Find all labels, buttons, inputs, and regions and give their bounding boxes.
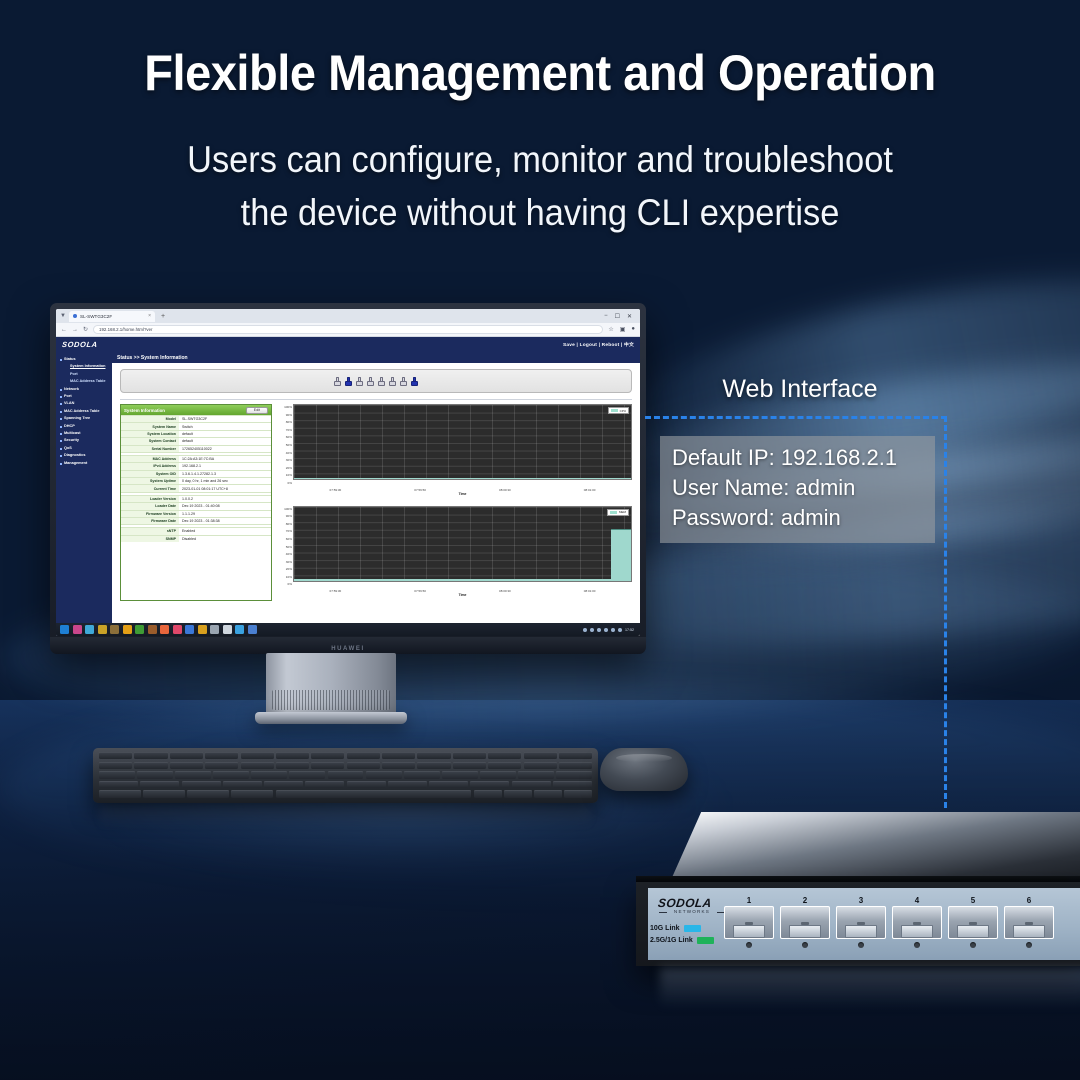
keyboard-key[interactable] — [175, 771, 211, 778]
app-header: SODOLA Save | Logout | Reboot | 中文 — [56, 337, 640, 352]
switch-port-5: 5 — [948, 896, 998, 948]
keyboard-key[interactable] — [347, 752, 380, 759]
utilization-charts: 100%90%80%70%60%50%40%30%20%10%0%CPU07:5… — [280, 404, 632, 601]
store-icon[interactable] — [110, 625, 119, 634]
folder-icon[interactable] — [98, 625, 107, 634]
x-axis-label: Time — [280, 593, 632, 597]
y-tick-label: 40% — [280, 450, 293, 458]
keyboard-reflection — [100, 805, 590, 827]
default-ip-line: Default IP: 192.168.2.1 — [672, 443, 923, 473]
keyboard-key[interactable] — [470, 781, 509, 788]
row-label: System Uptime — [121, 478, 179, 484]
keyboard-key[interactable] — [134, 762, 167, 769]
row-value: default — [179, 431, 271, 437]
breadcrumb: Status >> System Information — [112, 352, 640, 363]
row-value: default — [179, 438, 271, 444]
row-label: Firmware Date — [121, 518, 179, 524]
cloud-icon[interactable] — [604, 628, 608, 632]
favicon-icon — [73, 314, 77, 318]
y-tick-label: 10% — [280, 574, 293, 582]
sidebar-item-management[interactable]: Management — [59, 460, 109, 467]
x-axis-label: Time — [280, 492, 632, 496]
keyboard-key[interactable] — [518, 771, 554, 778]
sidebar-item-diagnostics[interactable]: Diagnostics — [59, 452, 109, 459]
office-icon[interactable] — [185, 625, 194, 634]
y-tick-label: 80% — [280, 419, 293, 427]
keyboard-key[interactable] — [264, 781, 303, 788]
port-icon-1[interactable] — [334, 377, 341, 386]
port-led — [970, 942, 976, 948]
keyboard-key[interactable] — [524, 762, 557, 769]
keyboard-key[interactable] — [213, 771, 249, 778]
table-row: Loader Version1.0.0.2 — [121, 495, 271, 502]
port-number: 2 — [780, 896, 830, 905]
legend-10g-swatch — [684, 925, 701, 932]
switch-port-1: 1 — [724, 896, 774, 948]
shield-icon[interactable] — [618, 628, 622, 632]
keyboard-key[interactable] — [241, 752, 274, 759]
table-row: System Contactdefault — [121, 437, 271, 444]
port-led — [1026, 942, 1032, 948]
keyboard-key[interactable] — [417, 762, 450, 769]
system-information-table: System Information Edit ModelSL-SWTG3C2F… — [120, 404, 272, 601]
y-tick-label: 70% — [280, 427, 293, 435]
keyboard-row — [99, 781, 592, 788]
y-tick-label: 80% — [280, 521, 293, 529]
legend-25g-link: 2.5G/1G Link — [650, 937, 714, 944]
skype-icon[interactable] — [235, 625, 244, 634]
legend-swatch — [610, 511, 617, 514]
table-row: Serial Number172652405110022 — [121, 445, 271, 452]
word-icon[interactable] — [248, 625, 257, 634]
sidebar-item-port[interactable]: Port — [59, 393, 109, 400]
tool-icon[interactable] — [148, 625, 157, 634]
port-number: 3 — [836, 896, 886, 905]
y-tick-label: 20% — [280, 566, 293, 574]
keyboard-key[interactable] — [564, 790, 592, 797]
table-row: System NameSwitch — [121, 422, 271, 429]
keyboard-key[interactable] — [429, 781, 468, 788]
row-label: System OID — [121, 471, 179, 477]
row-label: System Location — [121, 431, 179, 437]
keyboard-key[interactable] — [453, 762, 486, 769]
table-row: System OID1.3.6.1.4.1.27282.1.3 — [121, 470, 271, 477]
x-tick-label: 08:00:30 — [499, 589, 511, 593]
monitor: ▼ SL-SWTG3C2F × + − ☐ ✕ ← → ↻ 192.168.2.… — [50, 303, 646, 652]
keyboard-key[interactable] — [140, 781, 179, 788]
bookmark-star-icon[interactable]: ☆ — [608, 326, 613, 333]
keyboard-key[interactable] — [99, 781, 138, 788]
new-tab-button[interactable]: + — [158, 313, 168, 320]
page-title: Flexible Management and Operation — [32, 44, 1047, 102]
sidebar-item-network[interactable]: Network — [59, 386, 109, 393]
profile-avatar-icon[interactable]: ● — [631, 326, 635, 333]
keyboard-key[interactable] — [187, 790, 229, 797]
x-tick-label: 08:01:00 — [584, 488, 596, 492]
port-number: 6 — [1004, 896, 1054, 905]
monitor-bezel: HUAWEI — [50, 637, 646, 654]
content-area: Status >> System Information System Info… — [112, 352, 640, 636]
row-label: Current Time — [121, 485, 179, 491]
keyboard-key[interactable] — [347, 781, 386, 788]
keyboard-key[interactable] — [223, 781, 262, 788]
keyboard-key[interactable] — [251, 771, 287, 778]
sidebar-item-mac-address-table[interactable]: MAC Address Table — [59, 408, 109, 415]
switch-port-4: 4 — [892, 896, 942, 948]
port-icon-8[interactable] — [411, 377, 418, 386]
page-subtitle: Users can configure, monitor and trouble… — [38, 133, 1042, 239]
browser-tab-title: SL-SWTG3C2F — [80, 314, 112, 319]
table-row: sNTPEnabled — [121, 527, 271, 534]
sidebar-item-mac-address-table[interactable]: MAC Address Table — [59, 378, 109, 385]
row-value: Dec 19 2023 - 01:38:38 — [179, 518, 271, 524]
browser-icon[interactable] — [60, 625, 69, 634]
sidebar-item-vlan[interactable]: VLAN — [59, 400, 109, 407]
credentials-box: Default IP: 192.168.2.1 User Name: admin… — [660, 436, 935, 543]
extensions-icon[interactable]: ▣ — [620, 326, 626, 333]
switch-ports: 123456 — [724, 896, 1054, 948]
keyboard-key[interactable] — [241, 762, 274, 769]
chart-legend: MEM — [607, 509, 629, 516]
chevron-up-icon[interactable] — [611, 628, 615, 632]
monitor-screen: ▼ SL-SWTG3C2F × + − ☐ ✕ ← → ↻ 192.168.2.… — [56, 309, 640, 636]
table-row: MAC Address1C:2A:A3:1E:7C:BA — [121, 455, 271, 462]
plot-area: MEM — [293, 506, 632, 582]
x-tick-label: 07:59:30 — [330, 488, 342, 492]
keyboard-key[interactable] — [137, 771, 173, 778]
row-value: Enabled — [179, 528, 271, 534]
taskbar-clock[interactable]: 17:52 — [625, 628, 634, 632]
table-title: System Information — [124, 408, 165, 413]
volume-icon[interactable] — [590, 628, 594, 632]
switch-brand-logo: SODOLA — [657, 896, 725, 910]
switch-reflection — [660, 968, 1080, 1008]
y-tick-label: 90% — [280, 513, 293, 521]
y-axis: 100%90%80%70%60%50%40%30%20%10%0% — [280, 506, 293, 590]
table-row: ModelSL-SWTG3C2F — [121, 415, 271, 422]
info-and-charts: System Information Edit ModelSL-SWTG3C2F… — [112, 404, 640, 601]
row-value: 1.1.1.29 — [179, 511, 271, 517]
switch-web-ui: SODOLA Save | Logout | Reboot | 中文 Statu… — [56, 337, 640, 636]
switch-port-6: 6 — [1004, 896, 1054, 948]
keyboard-key[interactable] — [311, 752, 344, 759]
system-tray[interactable]: 17:52 — [583, 628, 636, 632]
sfp-cage-icon — [836, 906, 886, 939]
series-area — [611, 529, 631, 581]
address-bar[interactable]: 192.168.2.1/home.html?ver — [93, 325, 603, 334]
table-row: Loader DateDec 19 2023 - 01:40:08 — [121, 502, 271, 509]
port-number: 4 — [892, 896, 942, 905]
y-tick-label: 70% — [280, 528, 293, 536]
x-tick-label: 07:59:50 — [414, 488, 426, 492]
keyboard-key[interactable] — [474, 790, 502, 797]
table-row: System Uptime0 day, 0 hr, 1 min and 26 s… — [121, 477, 271, 484]
table-row: SNMPDisabled — [121, 535, 271, 542]
sidebar-item-security[interactable]: Security — [59, 437, 109, 444]
keyboard-key[interactable] — [556, 771, 592, 778]
row-label: sNTP — [121, 528, 179, 534]
password-line: Password: admin — [672, 503, 923, 533]
keyboard-key[interactable] — [311, 762, 344, 769]
y-tick-label: 50% — [280, 544, 293, 552]
sfp-cage-icon — [724, 906, 774, 939]
sfp-cage-icon — [948, 906, 998, 939]
row-value: 0 day, 0 hr, 1 min and 26 sec — [179, 478, 271, 484]
keyboard-key[interactable] — [382, 762, 415, 769]
port-led — [802, 942, 808, 948]
book-icon[interactable] — [123, 625, 132, 634]
photos-icon[interactable] — [173, 625, 182, 634]
port-icon-3[interactable] — [356, 377, 363, 386]
monitor-stand-base — [255, 712, 407, 724]
sidebar-item-dhcp[interactable]: DHCP — [59, 423, 109, 430]
keyboard-key[interactable] — [231, 790, 273, 797]
legend-swatch — [611, 409, 618, 412]
y-tick-label: 100% — [280, 404, 293, 412]
row-label: Firmware Version — [121, 511, 179, 517]
row-value: Dec 19 2023 - 01:40:08 — [179, 503, 271, 509]
row-value: 1C:2A:A3:1E:7C:BA — [179, 456, 271, 462]
row-label: SNMP — [121, 536, 179, 542]
legend-label: CPU — [620, 409, 626, 413]
row-value: Switch — [179, 423, 271, 429]
switch-port-3: 3 — [836, 896, 886, 948]
port-icon-5[interactable] — [378, 377, 385, 386]
keyboard-key[interactable] — [366, 771, 402, 778]
keyboard-key[interactable] — [559, 762, 592, 769]
keyboard-key[interactable] — [305, 781, 344, 788]
row-label: Serial Number — [121, 446, 179, 452]
sidebar: StatusSystem InformationPortMAC Address … — [56, 352, 112, 636]
keyboard-key[interactable] — [276, 752, 309, 759]
y-tick-label: 50% — [280, 442, 293, 450]
keyboard-key[interactable] — [134, 752, 167, 759]
port-led — [746, 942, 752, 948]
legend-10g-link: 10G Link — [650, 925, 701, 932]
legend-25g-swatch — [697, 937, 714, 944]
legend-25g-label: 2.5G/1G Link — [650, 937, 693, 944]
y-tick-label: 0% — [280, 581, 293, 589]
row-label: System Name — [121, 423, 179, 429]
keyboard-key[interactable] — [99, 752, 132, 759]
keyboard-key[interactable] — [480, 771, 516, 778]
toolbar-actions: ☆ ▣ ● — [608, 326, 635, 333]
chart-legend: CPU — [608, 407, 629, 414]
sfp-cage-icon — [780, 906, 830, 939]
keyboard-key[interactable] — [99, 762, 132, 769]
table-row: System Locationdefault — [121, 430, 271, 437]
x-tick-label: 07:59:50 — [414, 589, 426, 593]
row-label: IPv4 Address — [121, 463, 179, 469]
legend-label: MEM — [619, 510, 626, 514]
port-icon-2[interactable] — [345, 377, 352, 386]
browser-tab-strip: ▼ SL-SWTG3C2F × + − ☐ ✕ — [56, 309, 640, 323]
row-value: 2023-01-01 08:01:17 UTC+8 — [179, 485, 271, 491]
divider — [120, 399, 632, 400]
row-value: 192.168.2.1 — [179, 463, 271, 469]
keyboard-key[interactable] — [553, 781, 592, 788]
plot-area: CPU — [293, 404, 632, 480]
keyboard-key[interactable] — [276, 790, 472, 797]
keyboard-key[interactable] — [276, 762, 309, 769]
chrome-icon[interactable] — [160, 625, 169, 634]
keyboard-row — [99, 771, 592, 778]
port-number: 5 — [948, 896, 998, 905]
port-icon-7[interactable] — [400, 377, 407, 386]
row-label: Loader Version — [121, 496, 179, 502]
keyboard-row — [99, 790, 592, 797]
keyboard-key[interactable] — [559, 752, 592, 759]
keyboard-key[interactable] — [488, 752, 521, 759]
table-row: Current Time2023-01-01 08:01:17 UTC+8 — [121, 484, 271, 491]
printer-icon[interactable] — [223, 625, 232, 634]
keyboard-key[interactable] — [205, 762, 238, 769]
keyboard-key[interactable] — [99, 790, 141, 797]
callout-connector-horizontal — [645, 416, 947, 419]
mouse — [600, 748, 688, 791]
port-icon-4[interactable] — [367, 377, 374, 386]
chart-memory-utilization: 100%90%80%70%60%50%40%30%20%10%0%MEM07:5… — [280, 506, 632, 602]
keyboard-key[interactable] — [534, 790, 562, 797]
switch-top-surface — [670, 812, 1080, 882]
row-value: SL-SWTG3C2F — [179, 416, 271, 422]
app-pink-icon[interactable] — [73, 625, 82, 634]
battery-icon[interactable] — [597, 628, 601, 632]
user-name-line: User Name: admin — [672, 473, 923, 503]
table-row: Firmware Version1.1.1.29 — [121, 510, 271, 517]
table-body: ModelSL-SWTG3C2FSystem NameSwitchSystem … — [121, 415, 271, 542]
series-baseline — [294, 579, 631, 581]
monitor-stand-vent — [272, 690, 390, 710]
y-tick-label: 100% — [280, 506, 293, 514]
globe-icon[interactable] — [85, 625, 94, 634]
sidebar-item-port[interactable]: Port — [59, 371, 109, 378]
excel-icon[interactable] — [135, 625, 144, 634]
sidebar-item-status[interactable]: Status — [59, 356, 109, 363]
switch-port-2: 2 — [780, 896, 830, 948]
settings-icon[interactable] — [198, 625, 207, 634]
monitor-brand: HUAWEI — [331, 646, 365, 652]
keyboard-key[interactable] — [382, 752, 415, 759]
table-row: Firmware DateDec 19 2023 - 01:38:38 — [121, 517, 271, 524]
keyboard-key[interactable] — [182, 781, 221, 788]
keyboard-key[interactable] — [488, 762, 521, 769]
row-label: MAC Address — [121, 456, 179, 462]
os-taskbar: 17:52 — [56, 623, 640, 636]
chart-cpu-utilization: 100%90%80%70%60%50%40%30%20%10%0%CPU07:5… — [280, 404, 632, 500]
window-controls[interactable]: − ☐ ✕ — [604, 313, 636, 320]
callout-connector-vertical — [944, 416, 947, 808]
series-baseline — [294, 478, 631, 480]
maximize-icon[interactable]: ☐ — [615, 313, 620, 320]
edit-button[interactable]: Edit — [246, 407, 268, 414]
keyboard-key[interactable] — [143, 790, 185, 797]
keyboard-key[interactable] — [453, 752, 486, 759]
keyboard-row — [99, 762, 592, 769]
subtitle-line-1: Users can configure, monitor and trouble… — [38, 133, 1042, 186]
browser-tab[interactable]: SL-SWTG3C2F × — [69, 311, 155, 322]
keyboard-key[interactable] — [347, 762, 380, 769]
port-led — [914, 942, 920, 948]
keyboard-key[interactable] — [388, 781, 427, 788]
table-header: System Information Edit — [121, 405, 271, 415]
keyboard-key[interactable] — [504, 790, 532, 797]
sidebar-item-system-information[interactable]: System Information — [59, 363, 109, 370]
row-label: Loader Date — [121, 503, 179, 509]
port-status-panel[interactable] — [120, 369, 632, 393]
browser-toolbar: ← → ↻ 192.168.2.1/home.html?ver ☆ ▣ ● — [56, 323, 640, 337]
legend-10g-label: 10G Link — [650, 925, 680, 932]
y-tick-label: 60% — [280, 536, 293, 544]
keyboard-key[interactable] — [328, 771, 364, 778]
keyboard-key[interactable] — [417, 752, 450, 759]
keyboard-key[interactable] — [512, 781, 551, 788]
keyboard-key[interactable] — [524, 752, 557, 759]
keyboard-key[interactable] — [289, 771, 325, 778]
switch-brand-sublabel: NETWORKS — [660, 909, 724, 914]
row-label: System Contact — [121, 438, 179, 444]
port-led — [858, 942, 864, 948]
row-value: 1.3.6.1.4.1.27282.1.3 — [179, 471, 271, 477]
port-icon-6[interactable] — [389, 377, 396, 386]
app-body: StatusSystem InformationPortMAC Address … — [56, 352, 640, 636]
keyboard — [93, 748, 598, 803]
x-tick-label: 07:59:30 — [330, 589, 342, 593]
y-tick-label: 30% — [280, 559, 293, 567]
sfp-cage-icon — [892, 906, 942, 939]
sidebar-item-multicast[interactable]: Multicast — [59, 430, 109, 437]
minimize-icon[interactable]: − — [604, 313, 608, 320]
y-tick-label: 60% — [280, 434, 293, 442]
sidebar-item-qos[interactable]: QoS — [59, 445, 109, 452]
sidebar-item-spanning-tree[interactable]: Spanning Tree — [59, 415, 109, 422]
back-icon[interactable]: ← — [61, 327, 67, 333]
table-row: IPv4 Address192.168.2.1 — [121, 462, 271, 469]
forward-icon[interactable]: → — [72, 327, 78, 333]
y-tick-label: 40% — [280, 551, 293, 559]
app-logo: SODOLA — [62, 340, 99, 349]
y-axis: 100%90%80%70%60%50%40%30%20%10%0% — [280, 404, 293, 488]
keyboard-key[interactable] — [99, 771, 135, 778]
row-value: 172652405110022 — [179, 446, 271, 452]
y-tick-label: 20% — [280, 465, 293, 473]
keyboard-key[interactable] — [170, 752, 203, 759]
app-header-links[interactable]: Save | Logout | Reboot | 中文 — [563, 341, 634, 348]
keyboard-key[interactable] — [205, 752, 238, 759]
port-panel-wrap — [112, 363, 640, 400]
chevron-down-icon[interactable]: ▼ — [60, 313, 66, 319]
x-tick-label: 08:01:00 — [584, 589, 596, 593]
keyboard-key[interactable] — [442, 771, 478, 778]
subtitle-line-2: the device without having CLI expertise — [38, 186, 1042, 239]
keyboard-key[interactable] — [170, 762, 203, 769]
row-value: 1.0.0.2 — [179, 496, 271, 502]
row-label: Model — [121, 416, 179, 422]
y-tick-label: 90% — [280, 412, 293, 420]
reload-icon[interactable]: ↻ — [83, 326, 88, 333]
y-tick-label: 30% — [280, 457, 293, 465]
keyboard-row — [99, 752, 592, 759]
close-window-icon[interactable]: ✕ — [627, 313, 632, 320]
media-icon[interactable] — [210, 625, 219, 634]
x-tick-label: 08:00:30 — [499, 488, 511, 492]
y-tick-label: 10% — [280, 472, 293, 480]
network-icon[interactable] — [583, 628, 587, 632]
close-icon[interactable]: × — [148, 313, 151, 319]
port-number: 1 — [724, 896, 774, 905]
url-text: 192.168.2.1/home.html?ver — [99, 327, 152, 332]
keyboard-key[interactable] — [404, 771, 440, 778]
